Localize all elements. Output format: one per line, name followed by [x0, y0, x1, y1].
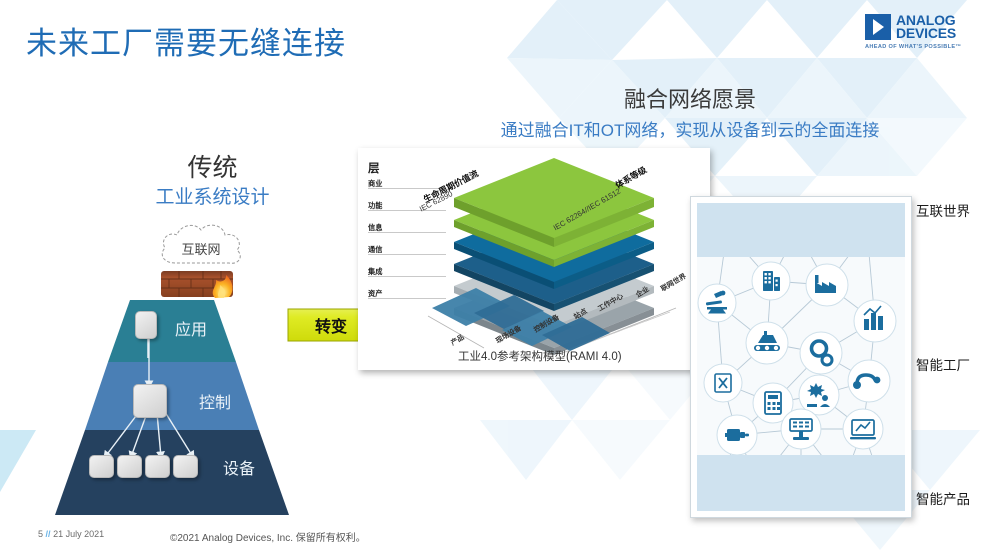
slide-root: 未来工厂需要无缝连接 ANALOG DEVICES AHEAD OF WHAT'… — [0, 0, 997, 560]
control-node — [133, 384, 167, 418]
rami-caption: 工业4.0参考架构模型(RAMI 4.0) — [458, 348, 622, 364]
rami-axis-title-layers: 层 — [368, 160, 380, 176]
tier-label-control: 控制 — [199, 389, 231, 413]
analog-devices-logo: ANALOG DEVICES AHEAD OF WHAT'S POSSIBLE™ — [865, 14, 983, 58]
transform-label: 转变 — [300, 313, 362, 337]
device-node-3 — [145, 455, 170, 478]
connected-world-canvas — [697, 203, 905, 511]
play-triangle-icon — [865, 14, 891, 40]
rami-layer-asset: 资产 — [368, 289, 382, 299]
rami-layer-information: 信息 — [368, 223, 382, 233]
band-connected-world — [697, 203, 905, 257]
device-node-4 — [173, 455, 198, 478]
tier-label-application: 应用 — [175, 316, 207, 340]
firewall-icon — [159, 267, 241, 301]
band-smart-products — [697, 455, 905, 511]
center-heading: 融合网络愿景 — [470, 82, 910, 114]
footer-copyright: ©2021 Analog Devices, Inc. 保留所有权利。 — [170, 529, 366, 544]
page-title: 未来工厂需要无缝连接 — [26, 18, 346, 63]
footer-date: 21 July 2021 — [53, 529, 104, 539]
left-heading: 传统 — [120, 148, 305, 184]
right-label-smart-products: 智能产品 — [916, 488, 970, 508]
rami-layer-integration: 集成 — [368, 267, 382, 277]
footer-separator: // — [46, 529, 51, 539]
application-node — [135, 311, 157, 339]
logo-tagline: AHEAD OF WHAT'S POSSIBLE™ — [865, 44, 983, 50]
pyramid-tier-application — [108, 300, 236, 362]
connected-world-card — [690, 196, 912, 518]
tier-label-device: 设备 — [223, 455, 255, 479]
rami-layer-business: 商业 — [368, 179, 382, 189]
logo-line-2: DEVICES — [896, 27, 956, 40]
automation-pyramid: 应用 控制 设备 — [27, 300, 317, 518]
footer-left: 5 // 21 July 2021 — [38, 529, 104, 539]
device-node-1 — [89, 455, 114, 478]
device-node-2 — [117, 455, 142, 478]
rami-layer-functional: 功能 — [368, 201, 382, 211]
right-label-smart-factory: 智能工厂 — [916, 354, 970, 374]
rami-layer-communication: 通信 — [368, 245, 382, 255]
pyramid-tier-control — [85, 362, 259, 430]
rami-diagram-card: 层 商业 功能 信息 通信 集成 资产 — [358, 148, 710, 370]
left-subheading: 工业系统设计 — [95, 182, 330, 209]
center-subheading: 通过融合IT和OT网络，实现从设备到云的全面连接 — [400, 116, 980, 141]
right-label-connected-world: 互联世界 — [916, 200, 970, 220]
footer-page-number: 5 — [38, 529, 43, 539]
